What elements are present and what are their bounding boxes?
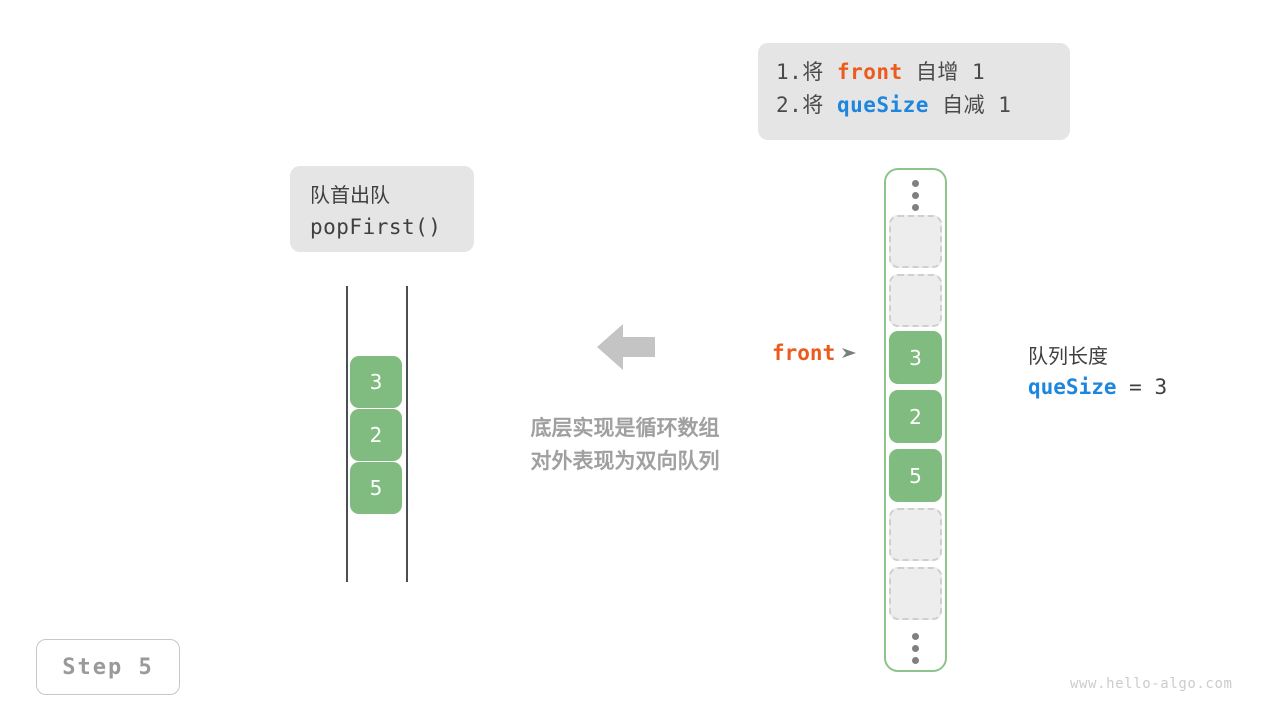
operation-line-2-suffix: 自减 1: [929, 93, 1011, 117]
array-cell-2: 3: [889, 331, 942, 384]
deque-cell-1: 2: [350, 409, 402, 461]
arrow-right-icon: [842, 346, 858, 360]
array-cell-0: [889, 215, 942, 268]
diagram-canvas: 1.将 front 自增 1 2.将 queSize 自减 1 队首出队 pop…: [0, 0, 1280, 720]
queue-size-expression: queSize = 3: [1028, 371, 1167, 405]
queue-size-note: 队列长度 queSize = 3: [1028, 341, 1167, 405]
array-cell-6: [889, 567, 942, 620]
queue-size-label: 队列长度: [1028, 341, 1167, 371]
step-badge: Step 5: [36, 639, 180, 695]
method-callout: 队首出队 popFirst(): [290, 166, 474, 252]
array-cell-1: [889, 274, 942, 327]
front-pointer-label: front: [772, 341, 835, 365]
center-note-line-2: 对外表现为双向队列: [500, 445, 750, 478]
operation-callout: 1.将 front 自增 1 2.将 queSize 自减 1: [758, 43, 1070, 140]
deque-cell-0: 3: [350, 356, 402, 408]
center-note: 底层实现是循环数组 对外表现为双向队列: [500, 412, 750, 477]
array-bottom-ellipsis-icon: [907, 633, 924, 664]
operation-line-1-prefix: 将: [802, 60, 837, 84]
operation-line-2-number: 2.: [776, 93, 802, 117]
array-cell-5: [889, 508, 942, 561]
array-top-ellipsis-icon: [907, 180, 924, 211]
array-cell-3: 2: [889, 390, 942, 443]
front-pointer: front: [772, 341, 858, 365]
queue-size-equals: =: [1117, 375, 1155, 399]
operation-line-2: 2.将 queSize 自减 1: [776, 89, 1050, 122]
deque-rail-right: [406, 286, 408, 582]
deque-cell-2: 5: [350, 462, 402, 514]
queue-size-value: 3: [1154, 375, 1167, 399]
center-note-line-1: 底层实现是循环数组: [500, 412, 750, 445]
operation-line-1-number: 1.: [776, 60, 802, 84]
operation-line-1-keyword: front: [837, 60, 903, 84]
deque-rail-left: [346, 286, 348, 582]
operation-line-1-suffix: 自增 1: [903, 60, 985, 84]
flow-arrow-left-icon: [597, 322, 655, 372]
watermark: www.hello-algo.com: [1070, 676, 1233, 692]
operation-line-2-keyword: queSize: [837, 93, 929, 117]
operation-line-1: 1.将 front 自增 1: [776, 56, 1050, 89]
method-callout-code: popFirst(): [310, 211, 474, 244]
array-cell-4: 5: [889, 449, 942, 502]
method-callout-title: 队首出队: [310, 180, 474, 211]
operation-line-2-prefix: 将: [802, 93, 837, 117]
queue-size-var: queSize: [1028, 375, 1117, 399]
